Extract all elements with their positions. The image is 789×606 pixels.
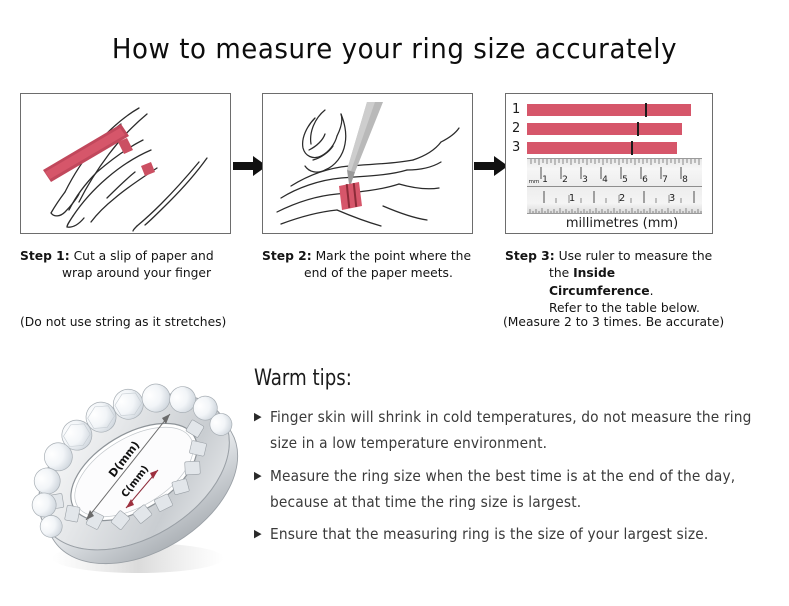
svg-text:3: 3 bbox=[582, 175, 588, 185]
step-2-column: Step 2: Mark the point where the end of … bbox=[262, 93, 473, 283]
step-2-line2: end of the paper meets. bbox=[262, 265, 473, 282]
triangle-bullet-icon: ▶ bbox=[254, 521, 270, 547]
step-2-illustration-panel bbox=[262, 93, 473, 234]
step-1-illustration-panel bbox=[20, 93, 231, 234]
svg-text:4: 4 bbox=[602, 175, 608, 185]
measured-strip-row: 1 bbox=[512, 102, 710, 117]
paper-strip-red bbox=[339, 182, 362, 210]
warm-tips-section: Warm tips: ▶ Finger skin will shrink in … bbox=[254, 366, 754, 553]
paper-strip-red bbox=[43, 124, 129, 182]
tip-3-line1: Ensure that the measuring ring is the si… bbox=[270, 525, 672, 543]
tip-item: ▶ Finger skin will shrink in cold temper… bbox=[254, 404, 754, 457]
step-3-illustration-panel: 1 2 3 bbox=[505, 93, 713, 234]
svg-text:1: 1 bbox=[542, 175, 548, 185]
step-2-caption: Step 2: Mark the point where the end of … bbox=[262, 248, 473, 283]
step-3-line2-prefix: the bbox=[549, 266, 573, 280]
tip-item: ▶ Measure the ring size when the best ti… bbox=[254, 463, 754, 516]
arrow-right-icon-2 bbox=[474, 155, 508, 177]
step-3-note: (Measure 2 to 3 times. Be accurate) bbox=[503, 315, 724, 329]
tip-1-line1: Finger skin will shrink in cold temperat… bbox=[270, 408, 626, 426]
steps-row: Step 1: Cut a slip of paper and wrap aro… bbox=[0, 0, 789, 340]
svg-text:7: 7 bbox=[662, 175, 668, 185]
ruler-unit-label: millimetres (mm) bbox=[536, 216, 708, 231]
measured-strip-row: 3 bbox=[512, 140, 710, 155]
step-2-line1: Mark the point where the bbox=[316, 249, 471, 263]
step-1-column: Step 1: Cut a slip of paper and wrap aro… bbox=[20, 93, 231, 283]
warm-tips-heading: Warm tips: bbox=[254, 366, 714, 391]
triangle-bullet-icon: ▶ bbox=[254, 404, 270, 457]
svg-text:5: 5 bbox=[622, 175, 628, 185]
ruler-icon: 1 2 3 4 5 6 7 8 mm bbox=[527, 158, 702, 214]
svg-text:3: 3 bbox=[669, 193, 675, 204]
measured-strips-group: 1 2 3 bbox=[512, 102, 710, 159]
step-1-line1: Cut a slip of paper and bbox=[74, 249, 214, 263]
strip-mark-1 bbox=[645, 103, 647, 117]
step-1-line2: wrap around your finger bbox=[20, 265, 231, 282]
strip-number-2: 2 bbox=[512, 121, 527, 136]
tip-2-line1: Measure the ring size when the best time… bbox=[270, 467, 655, 485]
strip-mark-2 bbox=[637, 122, 639, 136]
step-2-label: Step 2: bbox=[262, 249, 312, 263]
step-1-caption: Step 1: Cut a slip of paper and wrap aro… bbox=[20, 248, 231, 283]
svg-text:8: 8 bbox=[682, 175, 688, 185]
svg-text:2: 2 bbox=[619, 193, 625, 204]
tip-3-text: Ensure that the measuring ring is the si… bbox=[270, 521, 708, 547]
step-3-column: 1 2 3 bbox=[505, 93, 713, 318]
ring-diagram: D(mm) C(mm) bbox=[18, 352, 250, 596]
step-3-line1: Use ruler to measure the bbox=[559, 249, 713, 263]
paper-strip-3 bbox=[527, 142, 677, 154]
tip-2-text: Measure the ring size when the best time… bbox=[270, 463, 754, 516]
triangle-bullet-icon: ▶ bbox=[254, 463, 270, 516]
measured-strip-row: 2 bbox=[512, 121, 710, 136]
step-1-label: Step 1: bbox=[20, 249, 70, 263]
strip-mark-3 bbox=[631, 141, 633, 155]
tip-3-line2: size. bbox=[677, 525, 709, 543]
step-3-label: Step 3: bbox=[505, 249, 555, 263]
diamond-eternity-ring-icon: D(mm) C(mm) bbox=[18, 352, 250, 596]
tip-1-text: Finger skin will shrink in cold temperat… bbox=[270, 404, 754, 457]
svg-text:mm: mm bbox=[529, 179, 540, 185]
svg-text:6: 6 bbox=[642, 175, 648, 185]
step-3-line2-suffix: . bbox=[650, 284, 654, 298]
paper-strip-1 bbox=[527, 104, 691, 116]
strip-number-3: 3 bbox=[512, 140, 527, 155]
strip-number-1: 1 bbox=[512, 102, 527, 117]
hand-with-paper-strip-icon bbox=[21, 94, 229, 232]
tip-item: ▶ Ensure that the measuring ring is the … bbox=[254, 521, 754, 547]
step-1-note: (Do not use string as it stretches) bbox=[20, 315, 226, 329]
paper-strip-2 bbox=[527, 123, 682, 135]
svg-text:1: 1 bbox=[569, 193, 575, 204]
step-3-caption: Step 3: Use ruler to measure the the Ins… bbox=[505, 248, 713, 318]
svg-text:2: 2 bbox=[562, 175, 568, 185]
hand-marking-paper-with-pen-icon bbox=[263, 94, 471, 232]
ruler-center-line bbox=[527, 186, 702, 187]
